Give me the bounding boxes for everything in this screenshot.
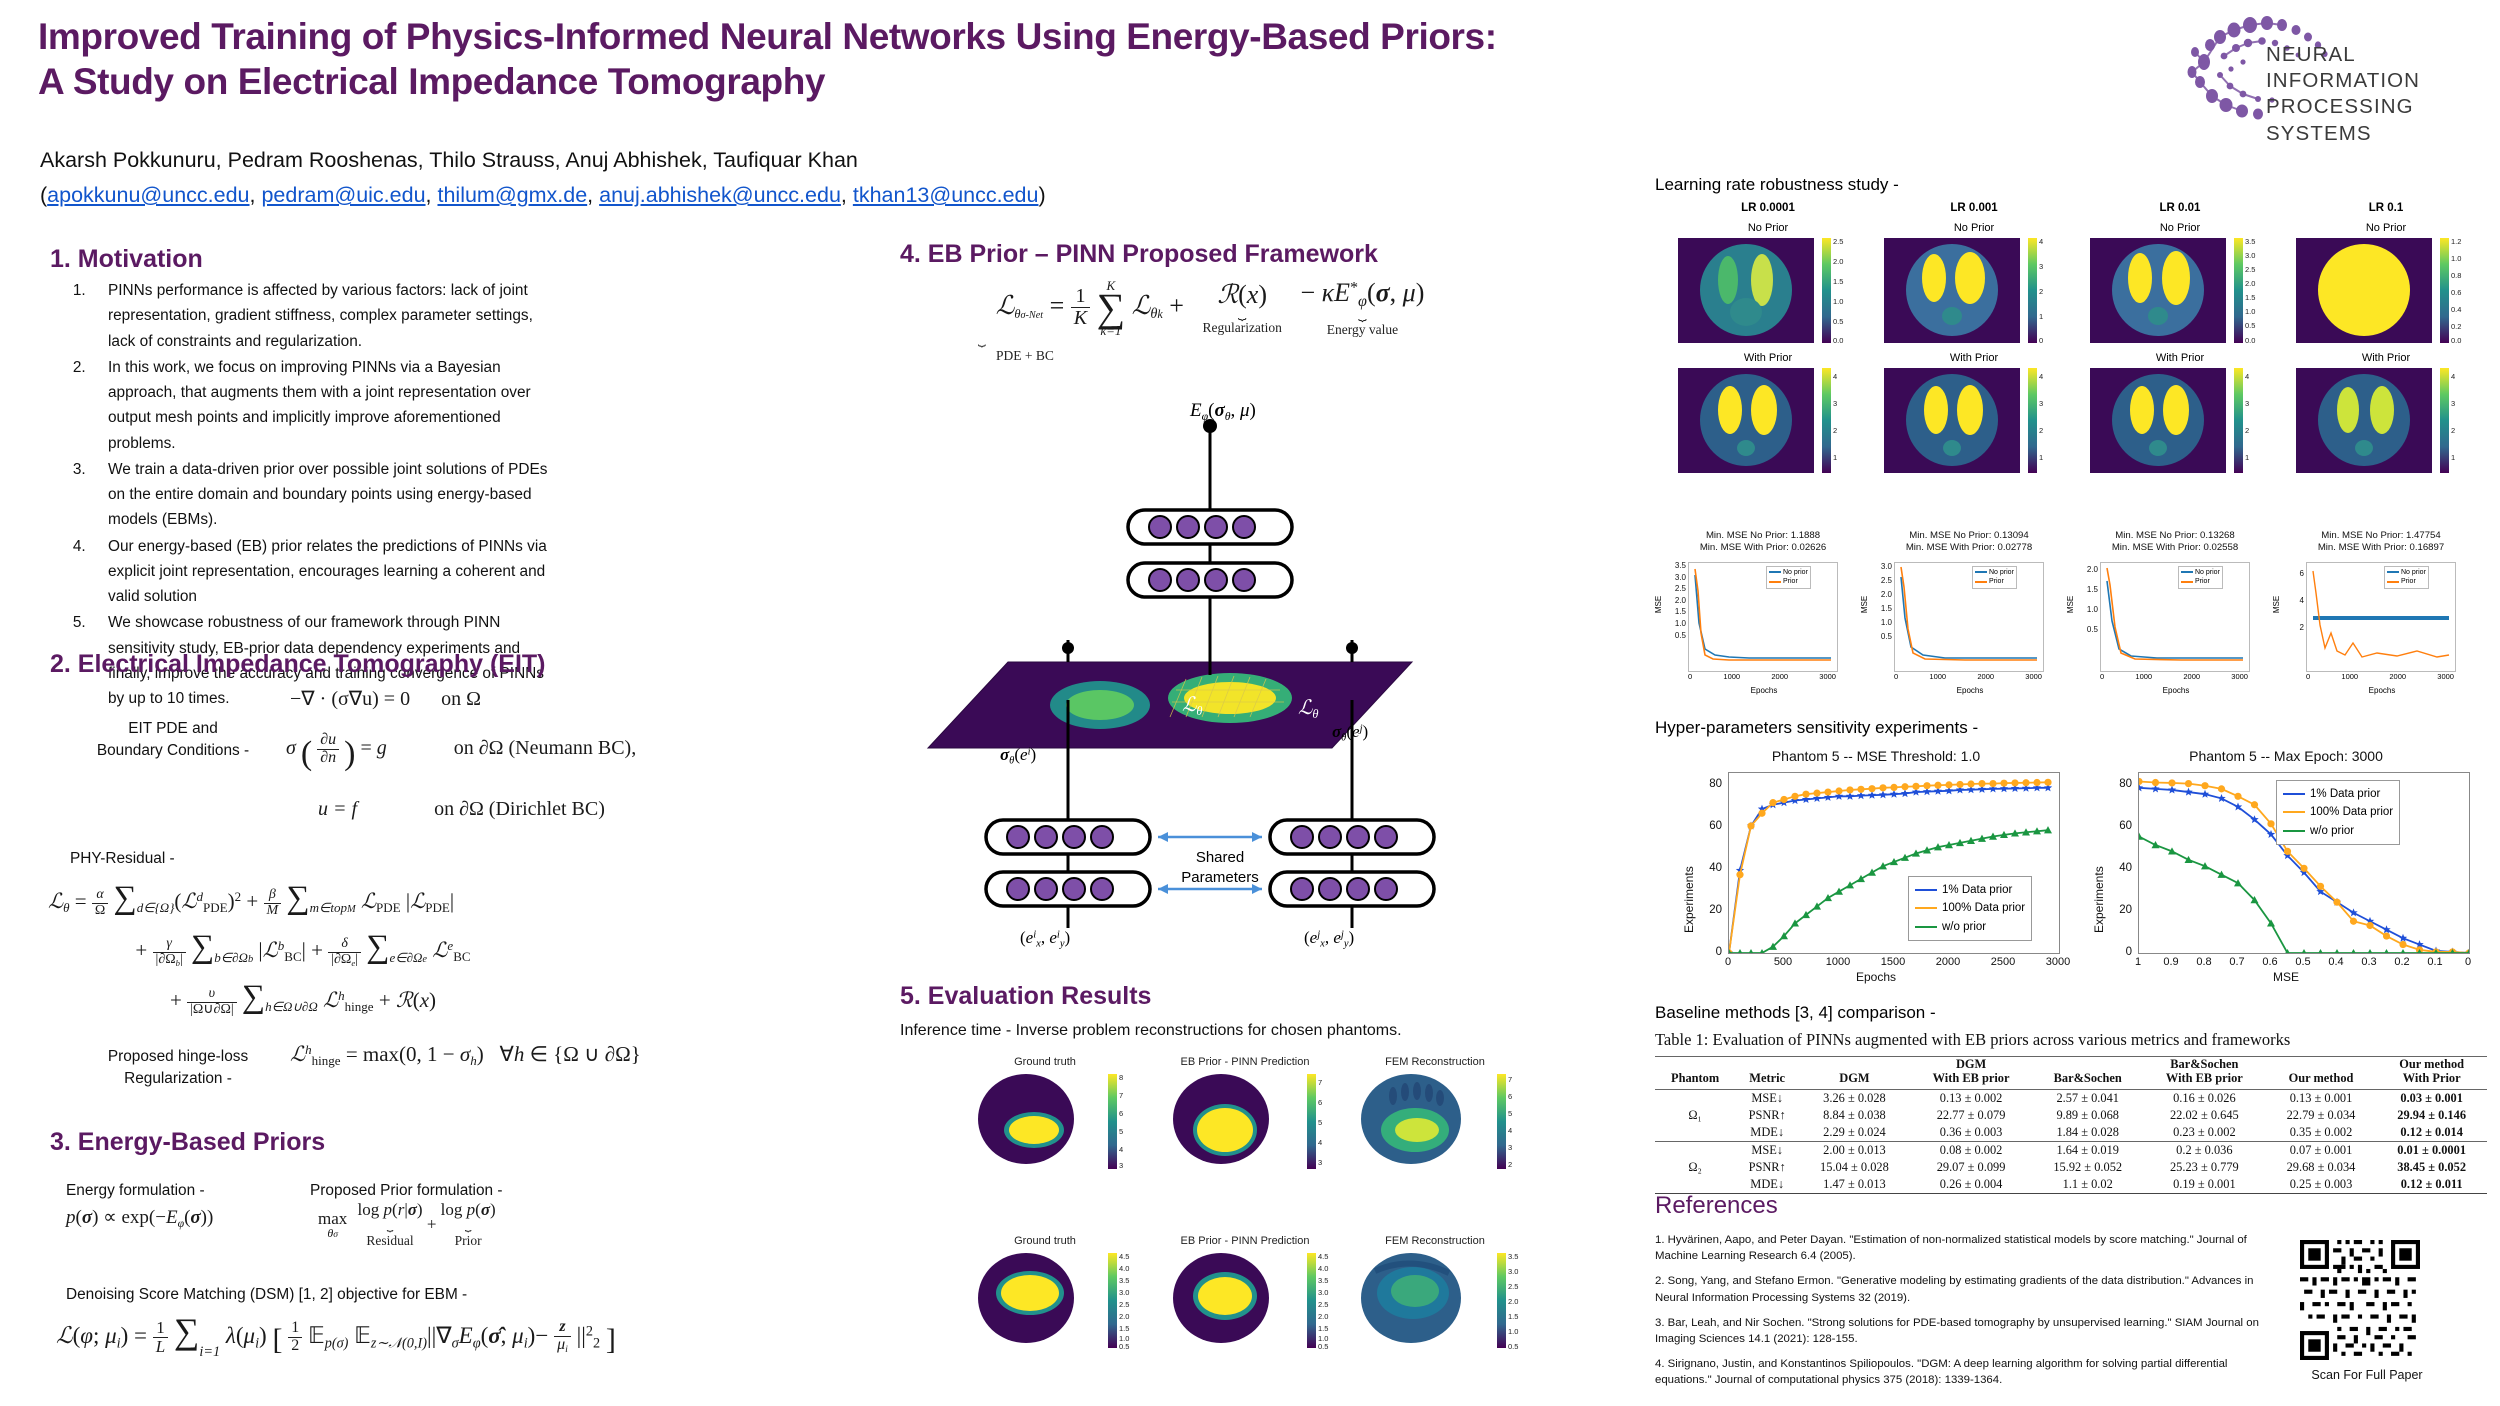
phantom-image: [1155, 1251, 1295, 1346]
panel-title: Ground truth: [960, 1056, 1130, 1068]
colorbar: [1307, 1253, 1316, 1348]
phantom-svg: [2090, 368, 2226, 473]
eit-pde-label-line2: Boundary Conditions -: [78, 740, 268, 762]
references-list: 1. Hyvärinen, Aapo, and Peter Dayan. "Es…: [1655, 1232, 2265, 1398]
chart-xtick: 2500: [1983, 956, 2023, 968]
colorbar: [2234, 368, 2243, 473]
mse-with-prior: Min. MSE With Prior: 0.02626: [1668, 542, 1858, 554]
eq-dirichlet-domain: on ∂Ω (Dirichlet BC): [434, 798, 605, 820]
td-metric: MSE↓: [1735, 1089, 1799, 1107]
lr-phantom-with-prior-3: [2090, 368, 2226, 478]
phantom-svg: [1345, 1251, 1485, 1346]
eq-framework: ℒθσ-Net = 1K K ∑ k=1 ℒθk + ℛ(x) ⏟ Regula…: [900, 278, 1520, 338]
chart-xlabel: MSE: [2086, 970, 2486, 984]
eq-hinge-loss: ℒhhinge = max(0, 1 − σh) ∀h ∈ {Ω ∪ ∂Ω}: [290, 1042, 641, 1069]
lr-column-title-4: LR 0.1: [2298, 202, 2474, 214]
lr-row-title-no-prior-2: No Prior: [1886, 222, 2062, 234]
prior-brace-residual-label: Residual: [358, 1233, 423, 1249]
eval-panel-ground-truth-1: Ground truth 876 543: [960, 1056, 1130, 1167]
panel-title: EB Prior - PINN Prediction: [1155, 1056, 1335, 1068]
loss-plot-legend-1: No prior Prior: [1766, 566, 1811, 589]
colorbar: [1497, 1074, 1506, 1169]
panel-title: EB Prior - PINN Prediction: [1155, 1235, 1335, 1247]
loss-plot-legend-3: No prior Prior: [2178, 566, 2223, 589]
chart-ytick: 60: [2106, 820, 2132, 832]
th-our-method-prior: Our methodWith Prior: [2376, 1057, 2487, 1090]
loss-plot-yticks-3: 2.0 1.5 1.0 0.5: [2072, 560, 2098, 640]
email-link-3[interactable]: thilum@gmx.de: [437, 183, 587, 207]
legend-item: 1% Data prior: [2283, 785, 2393, 803]
eq-phy-residual: ℒθ = αΩ ∑d∈{Ω}(ℒdPDE)2 + βM ∑m∈topM ℒPDE…: [48, 874, 558, 1022]
diagram-sigma-left-label: σθ(ei): [1000, 745, 1036, 766]
td-phantom: Ω₂: [1655, 1141, 1735, 1193]
mse-text-2: Min. MSE No Prior: 0.13094 Min. MSE With…: [1874, 530, 2064, 554]
colorbar: [1108, 1074, 1117, 1169]
legend-prior: Prior: [2387, 577, 2426, 586]
phantom-svg: [1678, 368, 1814, 473]
colorbar: [2028, 238, 2037, 343]
eq-prior-formulation: maxθσ log p(r|σ) ⏟ Residual + log p(σ) ⏟…: [318, 1200, 496, 1249]
chart-xlabel: Epochs: [1676, 970, 2076, 984]
loss-plot-ylabel-4: MSE: [2272, 596, 2281, 613]
baseline-label: Baseline methods [3, 4] comparison -: [1655, 1003, 2485, 1023]
sensitivity-chart-1: Phantom 5 -- MSE Threshold: 1.0 Experime…: [1676, 748, 2076, 988]
eval-panel-fem-1: FEM Reconstruction 765 432: [1345, 1056, 1525, 1167]
chart-xtick: 3000: [2038, 956, 2078, 968]
lr-phantom-no-prior-2: [1884, 238, 2020, 348]
panel-title: FEM Reconstruction: [1345, 1056, 1525, 1068]
legend-no-prior: No prior: [2387, 568, 2426, 577]
section-5-subtitle: Inference time - Inverse problem reconst…: [900, 1022, 1520, 1040]
td-value: 2.57 ± 0.041: [2032, 1089, 2143, 1107]
th-metric: Metric: [1735, 1057, 1799, 1090]
mse-with-prior: Min. MSE With Prior: 0.02778: [1874, 542, 2064, 554]
td-value-best: 0.12 ± 0.011: [2376, 1176, 2487, 1194]
eq-pde-expr: −∇ · (σ∇u) = 0: [290, 688, 410, 710]
loss-plot-ylabel-2: MSE: [1860, 596, 1869, 613]
phantom-image: [960, 1251, 1100, 1346]
email-link-1[interactable]: apokkunu@uncc.edu: [47, 183, 249, 207]
eval-panel-ground-truth-2: Ground truth 4.54.03.5 3.02.52.0 1.51.00…: [960, 1235, 1130, 1346]
brace-energy-label: Energy value: [1300, 322, 1424, 338]
lr-row-title-no-prior-4: No Prior: [2298, 222, 2474, 234]
td-value: 15.04 ± 0.028: [1799, 1159, 1910, 1176]
colorbar: [2440, 238, 2449, 343]
th-our-method: Our method: [2266, 1057, 2377, 1090]
td-value: 0.2 ± 0.036: [2143, 1141, 2266, 1159]
list-item: Our energy-based (EB) prior relates the …: [90, 534, 560, 610]
mse-text-3: Min. MSE No Prior: 0.13268 Min. MSE With…: [2080, 530, 2270, 554]
diagram-loss-label: ℒθ: [1182, 692, 1203, 719]
legend-item: w/o prior: [2283, 822, 2393, 840]
poster-root: Improved Training of Physics-Informed Ne…: [0, 0, 2500, 1406]
colorbar: [1307, 1074, 1316, 1169]
loss-plot-xticks-4: 0 1000 2000 3000: [2306, 672, 2454, 681]
eval-panel-eb-prior-1: EB Prior - PINN Prediction 765 43: [1155, 1056, 1335, 1167]
diagram-loss-label-right: ℒθ: [1298, 695, 1319, 722]
td-metric: MDE↓: [1735, 1124, 1799, 1142]
mse-with-prior: Min. MSE With Prior: 0.16897: [2286, 542, 2476, 554]
dsm-label: Denoising Score Matching (DSM) [1, 2] ob…: [66, 1284, 467, 1306]
chart-xtick: 1000: [1818, 956, 1858, 968]
legend-prior: Prior: [1769, 577, 1808, 586]
email-link-5[interactable]: tkhan13@uncc.edu: [853, 183, 1039, 207]
sensitivity-chart-2: Phantom 5 -- Max Epoch: 3000 Experiments…: [2086, 748, 2486, 988]
colorbar: [2440, 368, 2449, 473]
td-value: 2.29 ± 0.024: [1799, 1124, 1910, 1142]
th-dgm-eb: DGMWith EB prior: [1910, 1057, 2033, 1090]
chart-ylabel: Experiments: [1682, 866, 1696, 933]
chart-xtick: 2000: [1928, 956, 1968, 968]
legend-prior: Prior: [1975, 577, 2014, 586]
chart-title: Phantom 5 -- Max Epoch: 3000: [2086, 748, 2486, 764]
eq-pde-domain: on Ω: [441, 688, 481, 710]
loss-plot-xticks-3: 0 1000 2000 3000: [2100, 672, 2248, 681]
eq-pde: −∇ · (σ∇u) = 0 on Ω: [290, 686, 481, 711]
chart-ytick: 20: [1696, 904, 1722, 916]
td-value: 0.25 ± 0.003: [2266, 1176, 2377, 1194]
loss-plot-3: [2100, 562, 2250, 672]
td-value-best: 0.12 ± 0.014: [2376, 1124, 2487, 1142]
table-row: Ω₁ MSE↓ 3.26 ± 0.028 0.13 ± 0.002 2.57 ±…: [1655, 1089, 2487, 1107]
mse-text-1: Min. MSE No Prior: 1.1888 Min. MSE With …: [1668, 530, 1858, 554]
td-metric: PSNR↑: [1735, 1159, 1799, 1176]
section-4-heading: 4. EB Prior – PINN Proposed Framework: [900, 240, 1378, 269]
framework-diagram: Eφ(σθ, μ) ℒθ ℒθ σθ(ei) σθ(ej) Shared Par…: [900, 400, 1520, 970]
chart-legend: 1% Data prior 100% Data prior w/o prior: [1908, 876, 2032, 941]
loss-plot-yticks-4: 6 4 2: [2278, 560, 2304, 642]
loss-plot-svg: [1689, 563, 1837, 671]
td-value: 1.64 ± 0.019: [2032, 1141, 2143, 1159]
td-value-best: 29.94 ± 0.146: [2376, 1107, 2487, 1124]
td-metric: MSE↓: [1735, 1141, 1799, 1159]
td-value: 22.02 ± 0.645: [2143, 1107, 2266, 1124]
td-value: 0.07 ± 0.001: [2266, 1141, 2377, 1159]
phantom-svg: [1155, 1072, 1295, 1167]
diagram-shared-params-label: Shared Parameters: [1172, 848, 1268, 887]
section-2-heading: 2. Electrical Impedance Tomography (EIT): [50, 650, 546, 679]
phantom-svg: [960, 1072, 1100, 1167]
loss-plot-yticks-2: 3.0 2.5 2.0 1.5 1.0 0.5: [1866, 560, 1892, 644]
loss-plot-xlabel-2: Epochs: [1896, 686, 2044, 695]
phantom-svg: [1678, 238, 1814, 343]
lr-phantom-no-prior-1: [1678, 238, 1814, 348]
td-value: 29.07 ± 0.099: [1910, 1159, 2033, 1176]
colorbar: [1108, 1253, 1117, 1348]
list-item: PINNs performance is affected by various…: [90, 278, 560, 354]
chart-xtick: 500: [1763, 956, 1803, 968]
phantom-image: [1345, 1072, 1485, 1167]
loss-plot-4: [2306, 562, 2456, 672]
td-value: 25.23 ± 0.779: [2143, 1159, 2266, 1176]
hyperparams-label: Hyper-parameters sensitivity experiments…: [1655, 718, 2485, 738]
loss-plot-xticks-1: 0 1000 2000 3000: [1688, 672, 1836, 681]
lr-row-title-with-prior-1: With Prior: [1680, 352, 1856, 364]
chart-ytick: 40: [2106, 862, 2132, 874]
loss-plot-1: [1688, 562, 1838, 672]
phantom-svg: [960, 1251, 1100, 1346]
comparison-table: Phantom Metric DGM DGMWith EB prior Bar&…: [1655, 1056, 2487, 1194]
diagram-sigma-right-label: σθ(ej): [1332, 722, 1368, 743]
shared-params-line1: Shared: [1172, 848, 1268, 868]
td-value: 0.13 ± 0.001: [2266, 1089, 2377, 1107]
legend-item: 100% Data prior: [1915, 899, 2025, 917]
panel-title: Ground truth: [960, 1235, 1130, 1247]
title-line-2: A Study on Electrical Impedance Tomograp…: [38, 59, 2098, 104]
title-line-1: Improved Training of Physics-Informed Ne…: [38, 14, 2098, 59]
chart-ytick: 60: [1696, 820, 1722, 832]
mse-no-prior: Min. MSE No Prior: 1.1888: [1668, 530, 1858, 542]
eq-neumann-domain: on ∂Ω (Neumann BC),: [454, 737, 637, 759]
chart-ytick: 20: [2106, 904, 2132, 916]
reference-item: 3. Bar, Leah, and Nir Sochen. "Strong so…: [1655, 1315, 2265, 1347]
lr-phantom-no-prior-3: [2090, 238, 2226, 348]
reference-item: 1. Hyvärinen, Aapo, and Peter Dayan. "Es…: [1655, 1232, 2265, 1264]
list-item: We train a data-driven prior over possib…: [90, 457, 560, 533]
td-value: 0.36 ± 0.003: [1910, 1124, 2033, 1142]
eq-dirichlet-expr: u = f: [318, 798, 357, 820]
email-list: (apokkunu@uncc.edu, pedram@uic.edu, thil…: [40, 183, 1600, 208]
diagram-input-left-label: (eix, eiy): [1020, 928, 1070, 949]
lr-phantom-with-prior-2: [1884, 368, 2020, 478]
th-barsochen: Bar&Sochen: [2032, 1057, 2143, 1090]
lr-study-label: Learning rate robustness study -: [1655, 175, 2485, 195]
logo-line-2: PROCESSING SYSTEMS: [2266, 94, 2468, 146]
qr-code[interactable]: [2300, 1240, 2420, 1360]
chart-xtick: 0: [2448, 956, 2488, 968]
motivation-list: PINNs performance is affected by various…: [58, 278, 560, 713]
td-value-best: 0.01 ± 0.0001: [2376, 1141, 2487, 1159]
th-dgm: DGM: [1799, 1057, 1910, 1090]
diagram-input-right-label: (ejx, ejy): [1304, 928, 1354, 949]
loss-plot-xlabel-4: Epochs: [2308, 686, 2456, 695]
chart-title: Phantom 5 -- MSE Threshold: 1.0: [1676, 748, 2076, 764]
lr-phantom-no-prior-4: [2296, 238, 2432, 348]
diagram-energy-node-label: Eφ(σθ, μ): [1190, 400, 1256, 424]
table-row: MDE↓ 1.47 ± 0.013 0.26 ± 0.004 1.1 ± 0.0…: [1655, 1176, 2487, 1194]
prior-formulation-label: Proposed Prior formulation -: [310, 1180, 502, 1202]
section-5-heading: 5. Evaluation Results: [900, 982, 1151, 1011]
lr-phantom-with-prior-4: [2296, 368, 2432, 478]
lr-column-title-1: LR 0.0001: [1680, 202, 1856, 214]
shared-params-line2: Parameters: [1172, 868, 1268, 888]
td-value-best: 38.45 ± 0.052: [2376, 1159, 2487, 1176]
td-value: 8.84 ± 0.038: [1799, 1107, 1910, 1124]
eval-panel-fem-2: FEM Reconstruction 3.53.02.5 2.01.51.0 0…: [1345, 1235, 1525, 1346]
th-phantom: Phantom: [1655, 1057, 1735, 1090]
phantom-image: [1155, 1072, 1295, 1167]
phantom-svg: [2296, 238, 2432, 343]
mse-no-prior: Min. MSE No Prior: 1.47754: [2286, 530, 2476, 542]
table-row: Ω₂ MSE↓ 2.00 ± 0.013 0.08 ± 0.002 1.64 ±…: [1655, 1141, 2487, 1159]
loss-plot-ylabel-3: MSE: [2066, 596, 2075, 613]
phantom-svg: [1345, 1072, 1485, 1167]
chart-xtick: 1500: [1873, 956, 1913, 968]
td-value: 22.77 ± 0.079: [1910, 1107, 2033, 1124]
lr-row-title-with-prior-4: With Prior: [2298, 352, 2474, 364]
loss-plot-svg: [2307, 563, 2455, 671]
eval-panel-eb-prior-2: EB Prior - PINN Prediction 4.54.03.5 3.0…: [1155, 1235, 1335, 1346]
qr-code-icon[interactable]: [2300, 1240, 2420, 1360]
reference-item: 2. Song, Yang, and Stefano Ermon. "Gener…: [1655, 1273, 2265, 1305]
section-1-heading: 1. Motivation: [50, 245, 203, 274]
email-link-4[interactable]: anuj.abhishek@uncc.edu: [599, 183, 841, 207]
loss-plot-legend-2: No prior Prior: [1972, 566, 2017, 589]
legend-prior: Prior: [2181, 577, 2220, 586]
phantom-image: [960, 1072, 1100, 1167]
table-row: PSNR↑ 8.84 ± 0.038 22.77 ± 0.079 9.89 ± …: [1655, 1107, 2487, 1124]
legend-item: w/o prior: [1915, 918, 2025, 936]
eq-energy-formulation: p(σ) ∝ exp(−Eφ(σ)): [66, 1206, 213, 1231]
chart-ylabel: Experiments: [2092, 866, 2106, 933]
energy-formulation-label: Energy formulation -: [66, 1180, 205, 1202]
eit-pde-label: EIT PDE and Boundary Conditions -: [78, 718, 268, 763]
loss-plot-xlabel-3: Epochs: [2102, 686, 2250, 695]
td-value: 15.92 ± 0.052: [2032, 1159, 2143, 1176]
colorbar: [1822, 368, 1831, 473]
td-value: 1.1 ± 0.02: [2032, 1176, 2143, 1194]
email-link-2[interactable]: pedram@uic.edu: [261, 183, 425, 207]
colorbar: [1497, 1253, 1506, 1348]
td-metric: MDE↓: [1735, 1176, 1799, 1194]
td-value: 0.13 ± 0.002: [1910, 1089, 2033, 1107]
page-title: Improved Training of Physics-Informed Ne…: [38, 14, 2098, 104]
td-value: 0.08 ± 0.002: [1910, 1141, 2033, 1159]
lr-row-title-with-prior-2: With Prior: [1886, 352, 2062, 364]
mse-no-prior: Min. MSE No Prior: 0.13268: [2080, 530, 2270, 542]
td-value-best: 0.03 ± 0.001: [2376, 1089, 2487, 1107]
table-body: Ω₁ MSE↓ 3.26 ± 0.028 0.13 ± 0.002 2.57 ±…: [1655, 1089, 2487, 1193]
phy-residual-label: PHY-Residual -: [70, 848, 175, 870]
td-value: 3.26 ± 0.028: [1799, 1089, 1910, 1107]
list-item: In this work, we focus on improving PINN…: [90, 355, 560, 456]
brace-pde-bc-label: PDE + BC: [950, 348, 1100, 364]
colorbar: [1822, 238, 1831, 343]
eq-dirichlet: u = f on ∂Ω (Dirichlet BC): [318, 798, 605, 821]
td-metric: PSNR↑: [1735, 1107, 1799, 1124]
table-head: Phantom Metric DGM DGMWith EB prior Bar&…: [1655, 1057, 2487, 1090]
td-value: 22.79 ± 0.034: [2266, 1107, 2377, 1124]
chart-ytick: 80: [1696, 778, 1722, 790]
td-value: 29.68 ± 0.034: [2266, 1159, 2377, 1176]
legend-no-prior: No prior: [1769, 568, 1808, 577]
lr-row-title-no-prior-3: No Prior: [2092, 222, 2268, 234]
brace-regularization-label: Regularization: [1202, 320, 1281, 336]
phantom-svg: [1884, 238, 2020, 343]
logo-wordmark: NEURAL INFORMATION PROCESSING SYSTEMS: [2266, 42, 2468, 147]
td-value: 0.16 ± 0.026: [2143, 1089, 2266, 1107]
mse-text-4: Min. MSE No Prior: 1.47754 Min. MSE With…: [2286, 530, 2476, 554]
legend-item: 1% Data prior: [1915, 881, 2025, 899]
lr-phantom-with-prior-1: [1678, 368, 1814, 478]
legend-no-prior: No prior: [1975, 568, 2014, 577]
loss-plot-xticks-2: 0 1000 2000 3000: [1894, 672, 2042, 681]
td-value: 1.47 ± 0.013: [1799, 1176, 1910, 1194]
table-row: MDE↓ 2.29 ± 0.024 0.36 ± 0.003 1.84 ± 0.…: [1655, 1124, 2487, 1142]
hinge-loss-label-line1: Proposed hinge-loss: [78, 1046, 278, 1068]
lr-row-title-no-prior-1: No Prior: [1680, 222, 1856, 234]
td-value: 0.23 ± 0.002: [2143, 1124, 2266, 1142]
table-row: PSNR↑ 15.04 ± 0.028 29.07 ± 0.099 15.92 …: [1655, 1159, 2487, 1176]
table-caption: Table 1: Evaluation of PINNs augmented w…: [1655, 1030, 2485, 1050]
section-3-heading: 3. Energy-Based Priors: [50, 1128, 325, 1157]
chart-legend: 1% Data prior 100% Data prior w/o prior: [2276, 780, 2400, 845]
td-value: 1.84 ± 0.028: [2032, 1124, 2143, 1142]
td-value: 0.26 ± 0.004: [1910, 1176, 2033, 1194]
mse-with-prior: Min. MSE With Prior: 0.02558: [2080, 542, 2270, 554]
td-value: 0.35 ± 0.002: [2266, 1124, 2377, 1142]
lr-column-title-2: LR 0.001: [1886, 202, 2062, 214]
td-phantom: Ω₁: [1655, 1089, 1735, 1141]
lr-row-title-with-prior-3: With Prior: [2092, 352, 2268, 364]
td-value: 9.89 ± 0.068: [2032, 1107, 2143, 1124]
legend-no-prior: No prior: [2181, 568, 2220, 577]
phantom-svg: [2296, 368, 2432, 473]
panel-title: FEM Reconstruction: [1345, 1235, 1525, 1247]
phantom-image: [1345, 1251, 1485, 1346]
phantom-svg: [1155, 1251, 1295, 1346]
td-value: 0.19 ± 0.001: [2143, 1176, 2266, 1194]
hinge-loss-label-line2: Regularization -: [78, 1068, 278, 1090]
loss-plot-svg: [2101, 563, 2249, 671]
loss-plot-ylabel-1: MSE: [1654, 596, 1663, 613]
th-barsochen-eb: Bar&SochenWith EB prior: [2143, 1057, 2266, 1090]
author-list: Akarsh Pokkunuru, Pedram Rooshenas, Thil…: [40, 148, 1540, 173]
loss-plot-xlabel-1: Epochs: [1690, 686, 1838, 695]
colorbar: [2028, 368, 2037, 473]
neurips-logo: NEURAL INFORMATION PROCESSING SYSTEMS: [2148, 12, 2468, 120]
loss-plot-legend-4: No prior Prior: [2384, 566, 2429, 589]
references-heading: References: [1655, 1192, 1778, 1220]
loss-plot-2: [1894, 562, 2044, 672]
qr-caption: Scan For Full Paper: [2282, 1368, 2452, 1382]
td-value: 2.00 ± 0.013: [1799, 1141, 1910, 1159]
table-header-row: Phantom Metric DGM DGMWith EB prior Bar&…: [1655, 1057, 2487, 1090]
colorbar: [2234, 238, 2243, 343]
chart-xtick: 0: [1708, 956, 1748, 968]
eit-pde-label-line1: EIT PDE and: [78, 718, 268, 740]
chart-ytick: 80: [2106, 778, 2132, 790]
hinge-loss-label: Proposed hinge-loss Regularization -: [78, 1046, 278, 1091]
phantom-svg: [2090, 238, 2226, 343]
prior-brace-prior-label: Prior: [441, 1233, 496, 1249]
loss-plot-yticks-1: 3.5 3.0 2.5 2.0 1.5 1.0 0.5: [1660, 560, 1686, 641]
loss-plot-svg: [1895, 563, 2043, 671]
chart-ytick: 40: [1696, 862, 1722, 874]
phantom-svg: [1884, 368, 2020, 473]
mse-no-prior: Min. MSE No Prior: 0.13094: [1874, 530, 2064, 542]
legend-item: 100% Data prior: [2283, 803, 2393, 821]
reference-item: 4. Sirignano, Justin, and Konstantinos S…: [1655, 1356, 2265, 1388]
logo-line-1: NEURAL INFORMATION: [2266, 42, 2468, 94]
lr-column-title-3: LR 0.01: [2092, 202, 2268, 214]
eq-dsm: ℒ(φ; μi) = 1L ∑i=1 λ(μi) [ 12 𝔼p(σ) 𝔼z∼𝒩…: [56, 1310, 616, 1361]
eq-neumann: σ ( ∂u∂n ) = g on ∂Ω (Neumann BC),: [286, 732, 636, 773]
